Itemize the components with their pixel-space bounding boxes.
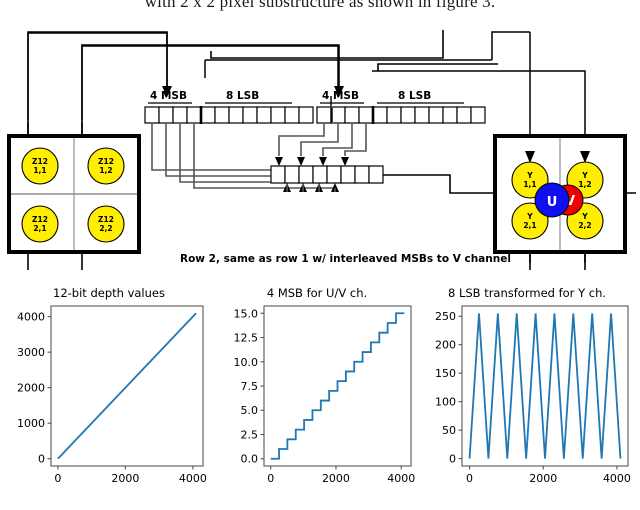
svg-text:2000: 2000 <box>111 472 139 485</box>
chart-msb: 4 MSB for U/V ch. 0200040000.02.55.07.51… <box>214 286 420 510</box>
depth-12bit-pixel-block[interactable]: Z121,1 Z121,2 Z122,1 Z122,2 <box>9 122 139 270</box>
charts-row: 12-bit depth values 02000400001000200030… <box>0 286 640 510</box>
svg-text:Y: Y <box>581 212 588 221</box>
svg-text:10.0: 10.0 <box>234 356 259 369</box>
chart-lsb-title: 8 LSB transformed for Y ch. <box>422 286 632 300</box>
chart-msb-title: 4 MSB for U/V ch. <box>214 286 420 300</box>
chart-lsb: 8 LSB transformed for Y ch. 020004000050… <box>422 286 640 510</box>
bit-row-1-msb-label: 4 MSB <box>150 90 187 102</box>
svg-text:3000: 3000 <box>17 346 45 359</box>
svg-text:Z12: Z12 <box>32 215 48 224</box>
svg-text:250: 250 <box>435 310 456 323</box>
depth-cell: Z121,1 <box>22 148 58 184</box>
chart-lsb-svg: 020004000050100150200250 <box>422 300 640 505</box>
svg-text:2,2: 2,2 <box>99 224 112 233</box>
svg-text:1000: 1000 <box>17 417 45 430</box>
yuv-pixel-block[interactable]: Y1,1 Y1,2 Y2,1 Y2,2 V U <box>495 136 625 270</box>
svg-text:150: 150 <box>435 367 456 380</box>
svg-text:50: 50 <box>442 424 456 437</box>
svg-text:2.5: 2.5 <box>241 428 259 441</box>
chart-msb-svg: 0200040000.02.55.07.510.012.515.0 <box>214 300 420 505</box>
svg-text:U: U <box>547 195 558 210</box>
svg-text:Y: Y <box>581 171 588 180</box>
page-caption-text: with 2 x 2 pixel substructure as shown i… <box>0 0 640 14</box>
svg-text:0: 0 <box>449 453 456 466</box>
svg-text:2,1: 2,1 <box>33 224 46 233</box>
svg-text:0: 0 <box>267 472 274 485</box>
svg-text:4000: 4000 <box>179 472 207 485</box>
svg-text:1,2: 1,2 <box>99 166 112 175</box>
svg-text:4000: 4000 <box>387 472 415 485</box>
svg-text:2,1: 2,1 <box>523 221 536 230</box>
svg-text:1,1: 1,1 <box>523 180 536 189</box>
svg-text:12.5: 12.5 <box>234 332 259 345</box>
figure-root: with 2 x 2 pixel substructure as shown i… <box>0 0 640 510</box>
combiner-in-arrows-top <box>275 157 349 166</box>
depth-cell: Z122,2 <box>88 206 124 242</box>
chart-depth-svg: 02000400001000200030004000 <box>6 300 212 505</box>
svg-text:2000: 2000 <box>529 472 557 485</box>
bit-row-1-lsb-label: 8 LSB <box>226 90 259 102</box>
svg-text:100: 100 <box>435 396 456 409</box>
svg-text:0.0: 0.0 <box>241 453 259 466</box>
svg-text:5.0: 5.0 <box>241 404 259 417</box>
msb-fanout-right <box>279 124 366 156</box>
bit-row-2-msb-label: 4 MSB <box>322 90 359 102</box>
svg-text:4000: 4000 <box>17 311 45 324</box>
svg-text:Y: Y <box>526 171 533 180</box>
chart-depth: 12-bit depth values 02000400001000200030… <box>6 286 212 510</box>
svg-text:0: 0 <box>54 472 61 485</box>
svg-text:Z12: Z12 <box>98 157 114 166</box>
svg-text:200: 200 <box>435 339 456 352</box>
svg-text:0: 0 <box>466 472 473 485</box>
svg-text:1,1: 1,1 <box>33 166 46 175</box>
interleaved-msb-register <box>271 166 383 183</box>
svg-text:Y: Y <box>526 212 533 221</box>
svg-text:4000: 4000 <box>603 472 631 485</box>
svg-text:2000: 2000 <box>322 472 350 485</box>
svg-text:Z12: Z12 <box>32 157 48 166</box>
chart-depth-title: 12-bit depth values <box>6 286 212 300</box>
svg-text:1,2: 1,2 <box>578 180 591 189</box>
bit-row-1 <box>145 103 313 124</box>
bit-row-2-lsb-label: 8 LSB <box>398 90 431 102</box>
combiner-output-wire <box>383 175 498 193</box>
depth-cell: Z122,1 <box>22 206 58 242</box>
chroma-u-circle: U <box>535 183 569 217</box>
svg-text:2,2: 2,2 <box>578 221 591 230</box>
svg-text:0: 0 <box>38 453 45 466</box>
svg-text:Z12: Z12 <box>98 215 114 224</box>
bit-row-2 <box>317 103 485 124</box>
svg-text:7.5: 7.5 <box>241 380 259 393</box>
svg-text:15.0: 15.0 <box>234 307 259 320</box>
pixel-mapping-diagram: Z121,1 Z121,2 Z122,1 Z122,2 <box>0 18 640 286</box>
depth-cell: Z121,2 <box>88 148 124 184</box>
svg-text:2000: 2000 <box>17 382 45 395</box>
row2-note: Row 2, same as row 1 w/ interleaved MSBs… <box>180 253 511 265</box>
